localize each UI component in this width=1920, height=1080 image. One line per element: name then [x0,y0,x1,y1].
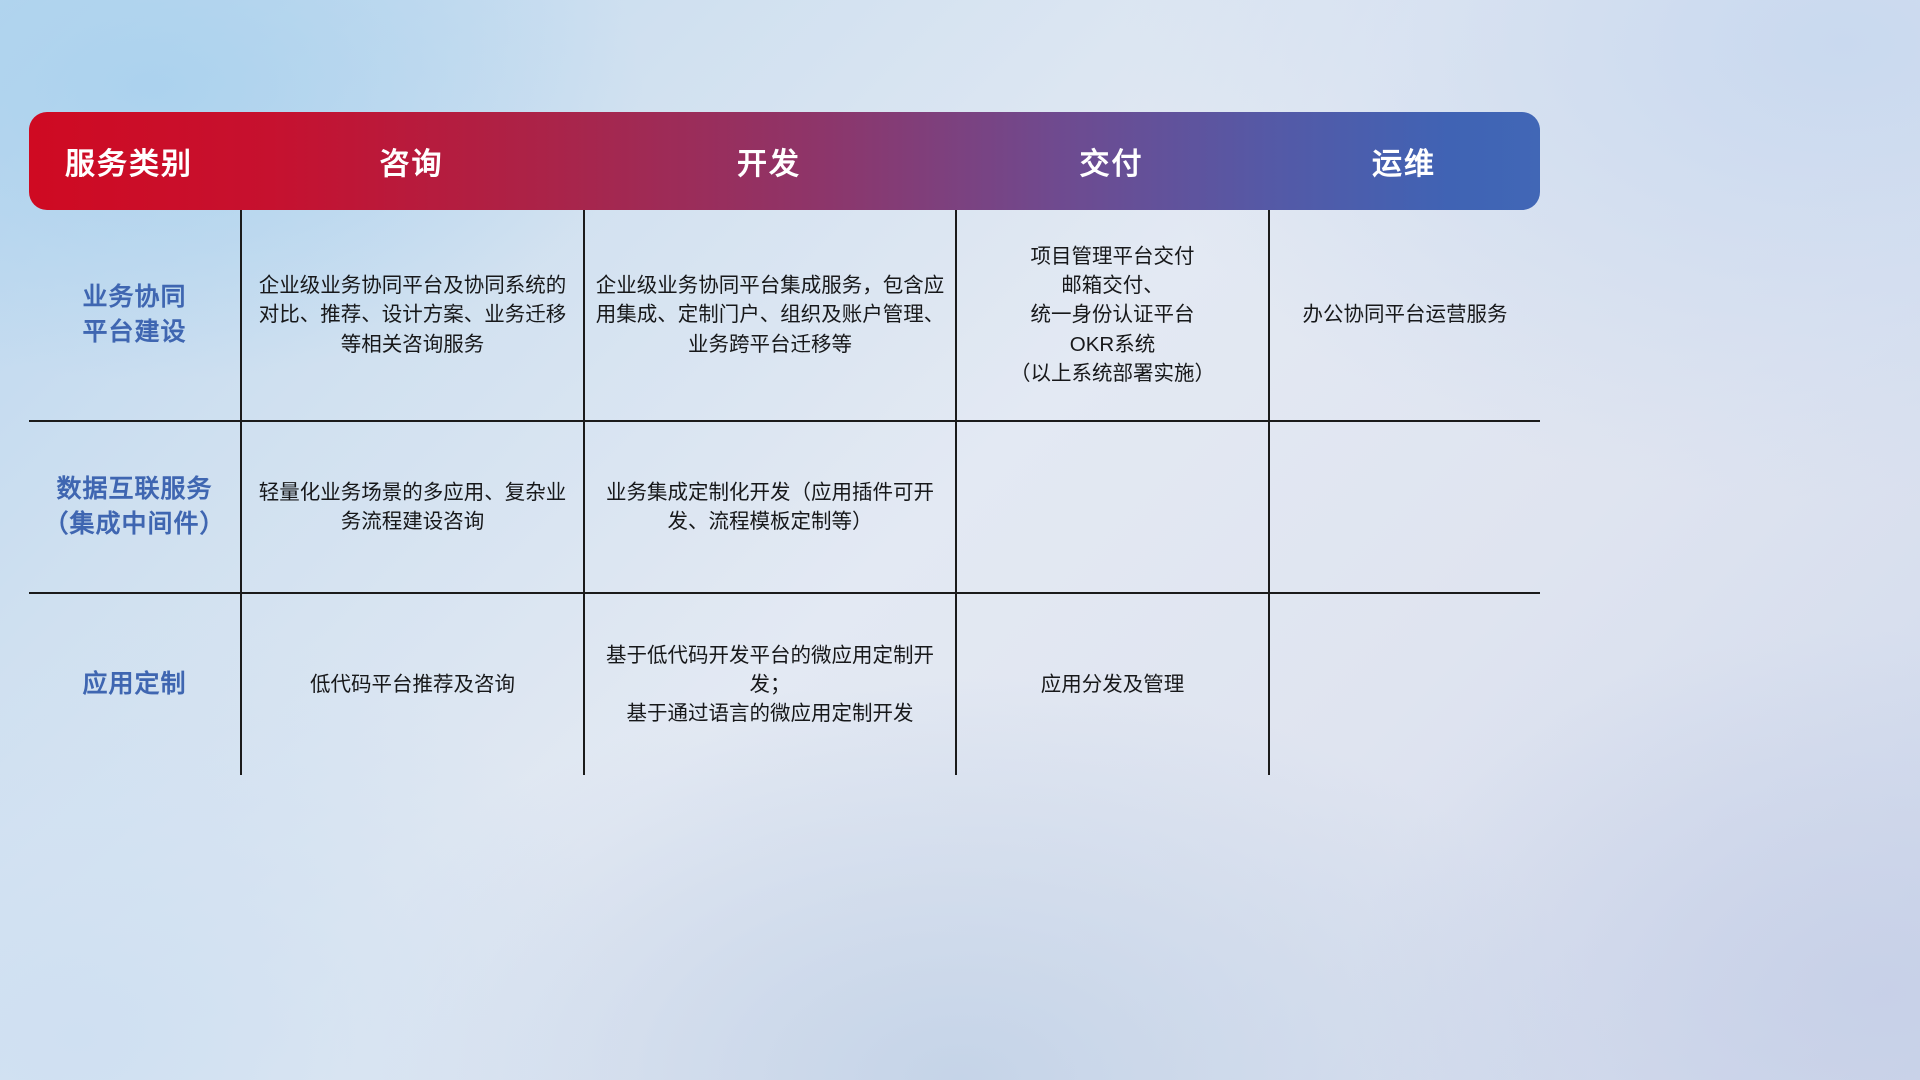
table-header-row: 服务类别 咨询 开发 交付 运维 [29,112,1540,210]
service-matrix-table: 服务类别 咨询 开发 交付 运维 业务协同平台建设 企业级业务协同平台及协同系统… [29,112,1540,775]
cell-consulting: 企业级业务协同平台及协同系统的对比、推荐、设计方案、业务迁移等相关咨询服务 [240,210,583,420]
cell-consulting: 轻量化业务场景的多应用、复杂业务流程建设咨询 [240,422,583,592]
row-label-category: 数据互联服务（集成中间件） [29,422,240,592]
column-header-delivery: 交付 [955,112,1268,210]
cell-consulting: 低代码平台推荐及咨询 [240,594,583,775]
cell-operations: 办公协同平台运营服务 [1268,210,1540,420]
table-row: 数据互联服务（集成中间件） 轻量化业务场景的多应用、复杂业务流程建设咨询 业务集… [29,420,1540,592]
cell-delivery: 应用分发及管理 [955,594,1268,775]
cell-delivery [955,422,1268,592]
column-header-development: 开发 [583,112,955,210]
cell-delivery: 项目管理平台交付邮箱交付、统一身份认证平台OKR系统（以上系统部署实施） [955,210,1268,420]
column-header-consulting: 咨询 [240,112,583,210]
table-body: 业务协同平台建设 企业级业务协同平台及协同系统的对比、推荐、设计方案、业务迁移等… [29,210,1540,775]
cell-development: 基于低代码开发平台的微应用定制开发；基于通过语言的微应用定制开发 [583,594,955,775]
column-header-category: 服务类别 [29,112,240,210]
table-row: 业务协同平台建设 企业级业务协同平台及协同系统的对比、推荐、设计方案、业务迁移等… [29,210,1540,420]
cell-development: 企业级业务协同平台集成服务，包含应用集成、定制门户、组织及账户管理、业务跨平台迁… [583,210,955,420]
row-label-category: 应用定制 [29,594,240,775]
row-label-category: 业务协同平台建设 [29,210,240,420]
cell-operations [1268,422,1540,592]
column-header-operations: 运维 [1268,112,1540,210]
table-row: 应用定制 低代码平台推荐及咨询 基于低代码开发平台的微应用定制开发；基于通过语言… [29,592,1540,775]
cell-development: 业务集成定制化开发（应用插件可开发、流程模板定制等） [583,422,955,592]
cell-operations [1268,594,1540,775]
